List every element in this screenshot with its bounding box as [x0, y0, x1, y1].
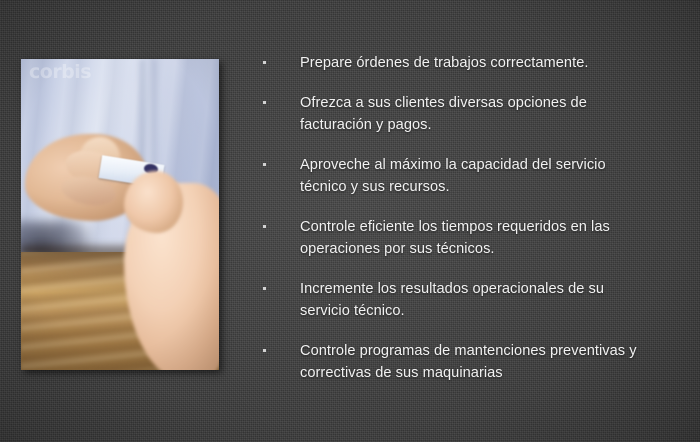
bullet-list: Prepare órdenes de trabajos correctament…: [258, 52, 678, 402]
list-item: Ofrezca a sus clientes diversas opciones…: [258, 92, 678, 136]
photo-canvas: corbis: [21, 59, 219, 370]
list-item: Controle eficiente los tiempos requerido…: [258, 216, 678, 260]
bullet-point-icon: [258, 92, 300, 114]
list-item: Incremente los resultados operacionales …: [258, 278, 678, 322]
bullet-text: Aproveche al máximo la capacidad del ser…: [300, 154, 678, 198]
photo-soft-light: [21, 59, 219, 370]
bullet-point-icon: [258, 216, 300, 238]
list-item: Controle programas de mantenciones preve…: [258, 340, 678, 384]
bullet-text: Incremente los resultados operacionales …: [300, 278, 678, 322]
bullet-point-icon: [258, 340, 300, 362]
bullet-point-icon: [258, 52, 300, 74]
bullet-point-icon: [258, 154, 300, 176]
bullet-text: Controle programas de mantenciones preve…: [300, 340, 678, 384]
list-item: Aproveche al máximo la capacidad del ser…: [258, 154, 678, 198]
list-item: Prepare órdenes de trabajos correctament…: [258, 52, 678, 74]
slide-photo: corbis: [21, 59, 219, 370]
photo-watermark: corbis: [29, 61, 91, 83]
bullet-point-icon: [258, 278, 300, 300]
bullet-text: Prepare órdenes de trabajos correctament…: [300, 52, 678, 74]
bullet-text: Ofrezca a sus clientes diversas opciones…: [300, 92, 678, 136]
bullet-text: Controle eficiente los tiempos requerido…: [300, 216, 678, 260]
presentation-slide: corbis Prepare órdenes de trabajos corre…: [0, 0, 700, 442]
